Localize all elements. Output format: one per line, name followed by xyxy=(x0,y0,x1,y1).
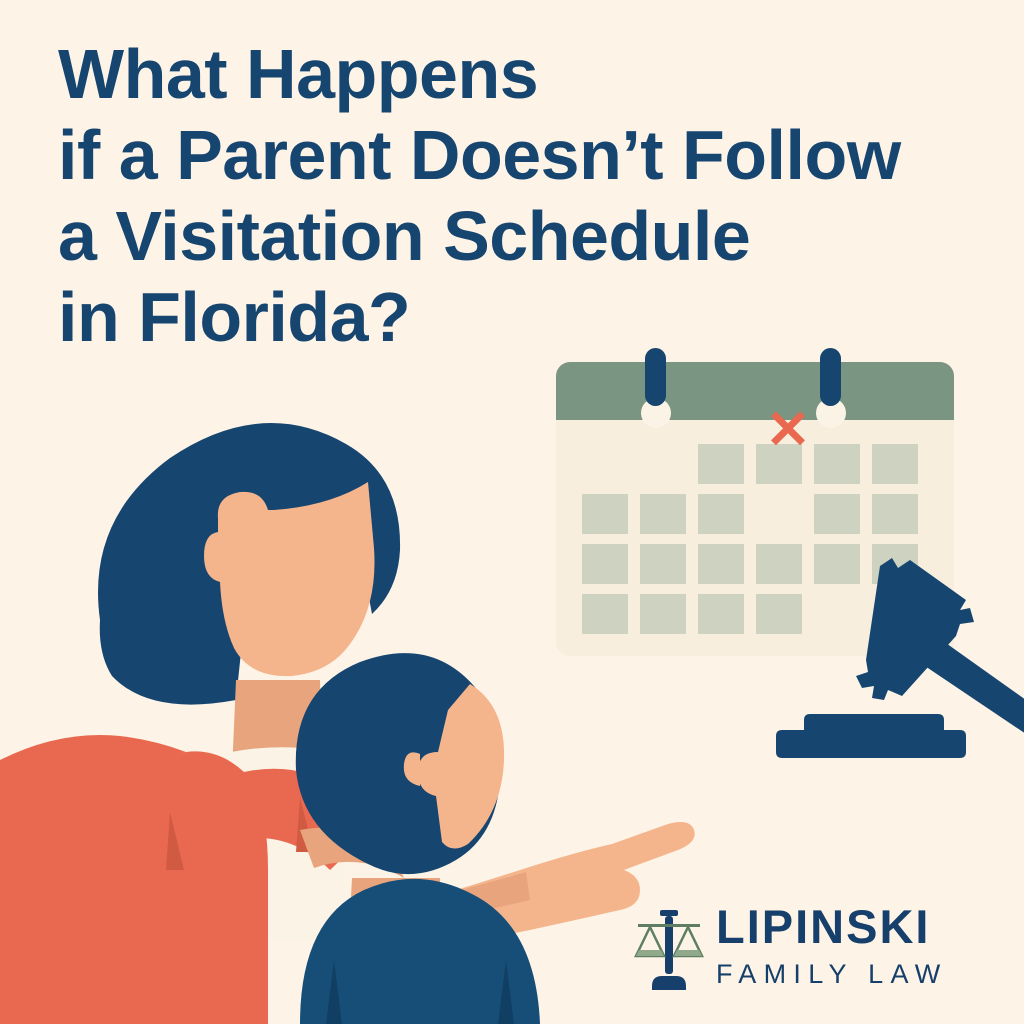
calendar-day-cell xyxy=(814,444,860,484)
scales-of-justice-icon xyxy=(632,908,706,992)
gavel-sound-block xyxy=(776,714,966,758)
calendar-missed-day-x-icon: ✕ xyxy=(764,408,812,452)
logo-wordmark: LIPINSKI FAMILY LAW xyxy=(716,902,948,991)
scales-right-pan-fill xyxy=(674,950,702,956)
headline-line-2: if a Parent Doesn’t Follow xyxy=(58,115,998,196)
calendar-day-cell xyxy=(698,494,744,534)
headline-line-1: What Happens xyxy=(58,34,998,115)
scales-base xyxy=(652,976,686,990)
social-graphic-canvas: What Happens if a Parent Doesn’t Follow … xyxy=(0,0,1024,1024)
scales-beam xyxy=(638,924,700,927)
logo-tagline: FAMILY LAW xyxy=(716,957,948,991)
scales-left-pan-fill xyxy=(636,950,664,956)
calendar-ring-left xyxy=(645,348,666,406)
calendar-day-cell xyxy=(872,444,918,484)
brand-logo[interactable]: LIPINSKI FAMILY LAW xyxy=(632,902,982,998)
people-svg xyxy=(0,400,700,1024)
calendar-ring-right xyxy=(820,348,841,406)
gavel-illustration xyxy=(770,548,1024,780)
headline-line-3: a Visitation Schedule xyxy=(58,196,998,277)
scales-top-knob xyxy=(660,910,678,916)
calendar-day-cell xyxy=(872,494,918,534)
headline-line-4: in Florida? xyxy=(58,277,998,358)
calendar-day-cell xyxy=(698,544,744,584)
page-title: What Happens if a Parent Doesn’t Follow … xyxy=(58,34,998,358)
gavel-shape xyxy=(776,558,1024,758)
logo-firm-name: LIPINSKI xyxy=(716,902,948,952)
mother-and-child-illustration xyxy=(0,400,700,1024)
calendar-day-cell xyxy=(698,594,744,634)
scales-svg xyxy=(632,908,706,992)
gavel-svg xyxy=(770,548,1024,780)
calendar-day-cell xyxy=(698,444,744,484)
calendar-day-cell xyxy=(814,494,860,534)
